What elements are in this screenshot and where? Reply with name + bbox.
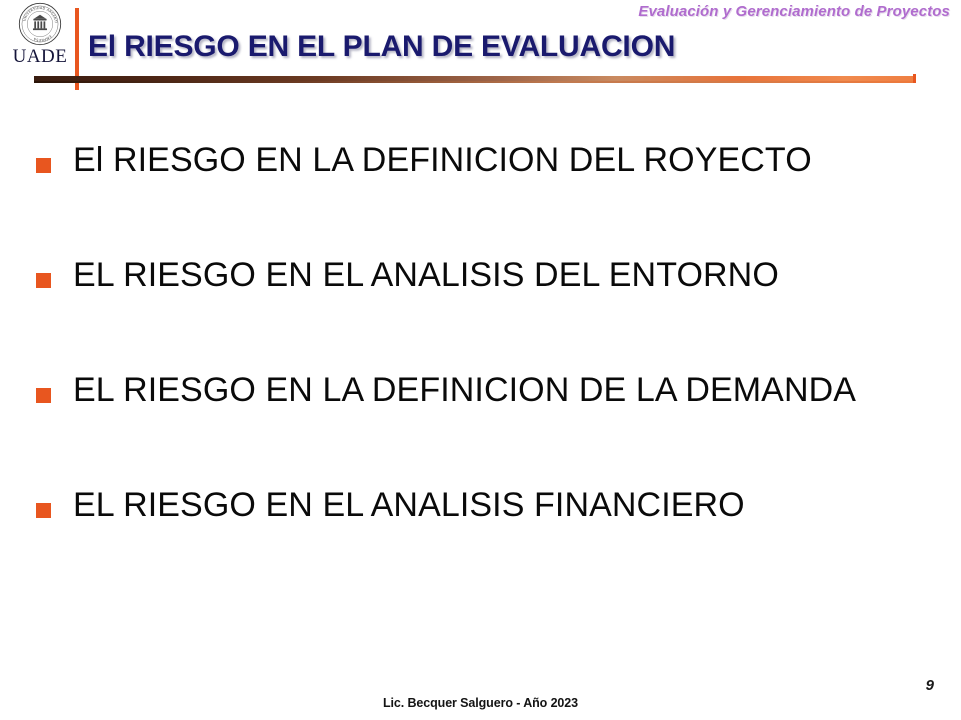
list-item: EL RIESGO EN EL ANALISIS DEL ENTORNO <box>0 255 961 370</box>
list-item: El RIESGO EN LA DEFINICION DEL ROYECTO <box>0 140 961 255</box>
list-item: EL RIESGO EN LA DEFINICION DE LA DEMANDA <box>0 370 961 485</box>
list-item-label: EL RIESGO EN LA DEFINICION DE LA DEMANDA <box>73 370 856 410</box>
slide-header: UNIVERSIDAD ARGENTINA DE LA EMPRESA UADE… <box>0 0 961 95</box>
list-item-label: EL RIESGO EN EL ANALISIS DEL ENTORNO <box>73 255 779 295</box>
bullet-square-icon <box>36 503 51 518</box>
svg-text:EMPRESA: EMPRESA <box>32 34 52 42</box>
uade-wordmark: UADE <box>6 47 74 67</box>
uade-seal-icon: UNIVERSIDAD ARGENTINA DE LA EMPRESA <box>18 2 62 46</box>
bullet-square-icon <box>36 388 51 403</box>
footer-credit: Lic. Becquer Salguero - Año 2023 <box>0 696 961 710</box>
bullet-square-icon <box>36 273 51 288</box>
list-item-label: El RIESGO EN LA DEFINICION DEL ROYECTO <box>73 140 812 180</box>
header-divider-thin <box>34 81 915 83</box>
bullet-square-icon <box>36 158 51 173</box>
list-item: EL RIESGO EN EL ANALISIS FINANCIERO <box>0 485 961 600</box>
list-item-label: EL RIESGO EN EL ANALISIS FINANCIERO <box>73 485 745 525</box>
uade-logo-block: UNIVERSIDAD ARGENTINA DE LA EMPRESA UADE <box>6 2 74 74</box>
page-title: El RIESGO EN EL PLAN DE EVALUACION <box>88 30 675 64</box>
presentation-slide: { "header": { "logo_alt": "uade-seal-log… <box>0 0 961 720</box>
page-number: 9 <box>926 677 934 694</box>
course-title: Evaluación y Gerenciamiento de Proyectos <box>638 3 950 20</box>
header-divider-endcap <box>913 74 916 83</box>
bullet-list: El RIESGO EN LA DEFINICION DEL ROYECTO E… <box>0 140 961 600</box>
